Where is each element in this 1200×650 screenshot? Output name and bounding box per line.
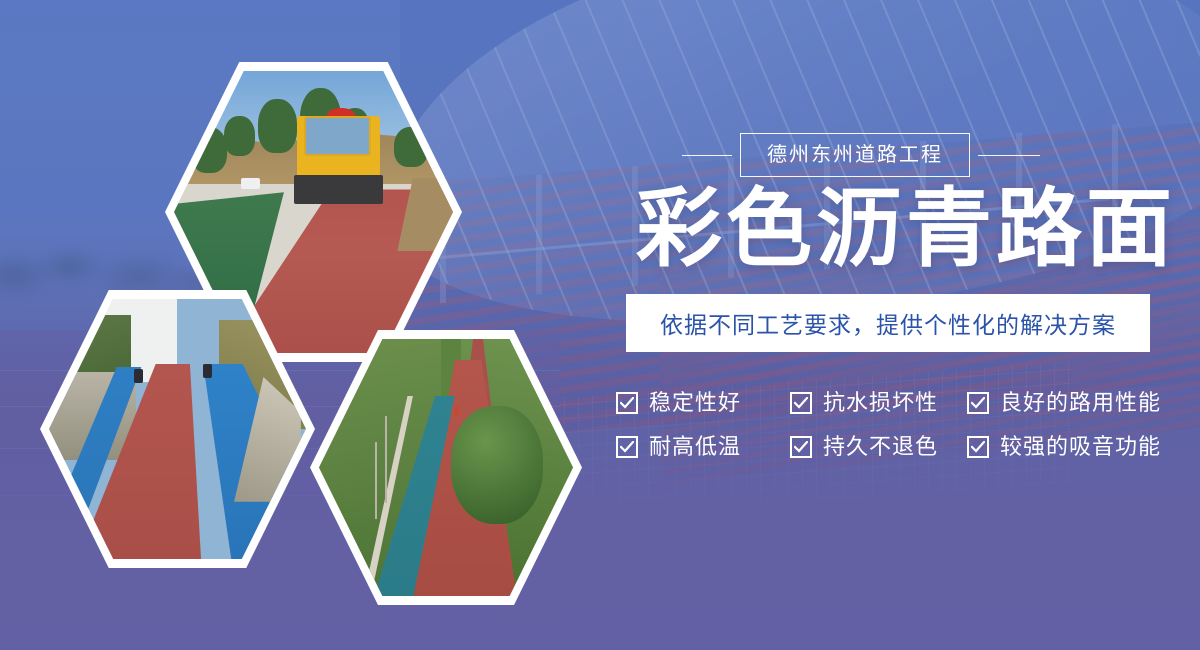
feature-item: 耐高低温	[616, 436, 790, 458]
feature-item: 稳定性好	[616, 392, 790, 414]
feature-item: 抗水损坏性	[790, 392, 967, 414]
subtitle-text: 依据不同工艺要求，提供个性化的解决方案	[660, 306, 1116, 340]
feature-label: 抗水损坏性	[823, 392, 938, 414]
feature-label: 持久不退色	[823, 436, 938, 458]
badge-rule-right	[978, 155, 1040, 156]
subtitle-bar: 依据不同工艺要求，提供个性化的解决方案	[626, 294, 1150, 352]
check-icon	[967, 392, 989, 414]
feature-item: 良好的路用性能	[967, 392, 1161, 414]
badge-rule-left	[682, 155, 732, 156]
feature-label: 耐高低温	[649, 436, 741, 458]
brand-badge: 德州东州道路工程	[682, 133, 1154, 177]
feature-label: 较强的吸音功能	[1000, 436, 1161, 458]
banner-root: 德州东州道路工程 彩色沥青路面 依据不同工艺要求，提供个性化的解决方案 稳定性好…	[0, 0, 1200, 650]
page-title: 彩色沥青路面	[636, 186, 1176, 272]
check-icon	[616, 392, 638, 414]
check-icon	[967, 436, 989, 458]
hex-photo-greenway-mask	[319, 339, 573, 596]
hex-photo-blue-red-road-mask	[49, 299, 306, 559]
feature-list: 稳定性好 抗水损坏性 良好的路用性能 耐高低温	[616, 392, 1176, 458]
feature-row: 稳定性好 抗水损坏性 良好的路用性能	[616, 392, 1176, 414]
feature-item: 持久不退色	[790, 436, 967, 458]
badge-label: 德州东州道路工程	[767, 145, 943, 165]
feature-label: 良好的路用性能	[1000, 392, 1161, 414]
photo-greenway-bike-path	[319, 339, 573, 596]
badge-box: 德州东州道路工程	[740, 133, 970, 177]
feature-label: 稳定性好	[649, 392, 741, 414]
check-icon	[790, 436, 812, 458]
photo-blue-red-road	[49, 299, 306, 559]
feature-row: 耐高低温 持久不退色 较强的吸音功能	[616, 436, 1176, 458]
check-icon	[616, 436, 638, 458]
check-icon	[790, 392, 812, 414]
feature-item: 较强的吸音功能	[967, 436, 1161, 458]
